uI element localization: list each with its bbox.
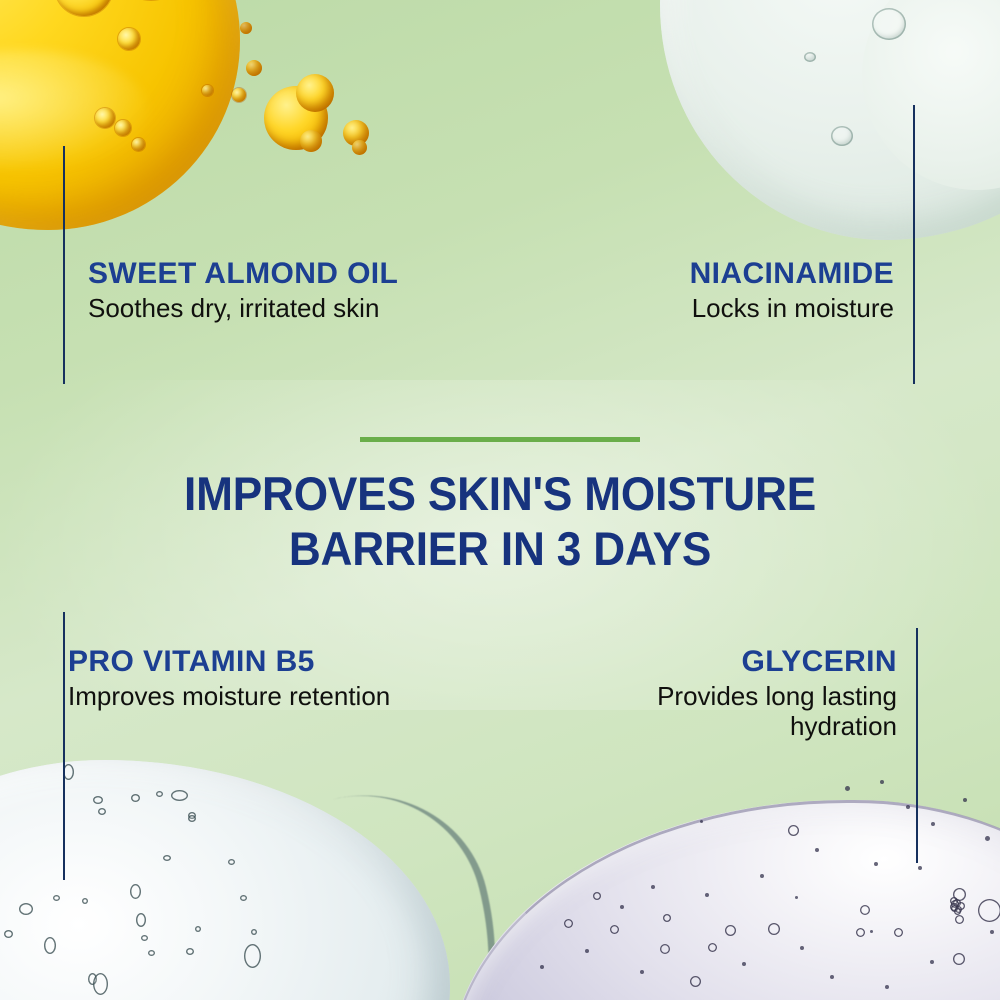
clear-gel-bubble: [228, 859, 235, 865]
headline-divider: [360, 437, 640, 442]
connector-line-pro-vitamin-b5: [63, 612, 65, 880]
lavender-gel-bubble: [954, 908, 961, 915]
clear-gel-bubble: [156, 791, 163, 797]
lavender-gel-bubble: [690, 976, 701, 987]
lavender-gel-bubble: [768, 923, 780, 935]
ingredient-description-line-1: Provides long lasting: [657, 681, 897, 711]
lavender-gel-speck: [874, 862, 878, 866]
lavender-gel-speck: [990, 930, 994, 934]
clear-gel-bubble: [93, 796, 103, 804]
clear-gel-bubble: [131, 794, 140, 802]
lavender-gel-speck: [870, 930, 873, 933]
lavender-gel-bubble: [860, 905, 870, 915]
oil-satellite-droplet: [300, 130, 322, 152]
ingredient-pro-vitamin-b5: PRO VITAMIN B5 Improves moisture retenti…: [68, 646, 390, 711]
headline-line-1: IMPROVES SKIN'S MOISTURE: [30, 466, 970, 521]
clear-gel-bubble: [63, 764, 74, 780]
page-headline: IMPROVES SKIN'S MOISTURE BARRIER IN 3 DA…: [30, 466, 970, 577]
lavender-gel-speck: [918, 866, 922, 870]
ingredient-glycerin: GLYCERIN Provides long lasting hydration: [657, 646, 897, 742]
lavender-gel-bubble: [593, 892, 601, 900]
lavender-gel-speck: [742, 962, 746, 966]
lavender-gel-speck: [985, 836, 990, 841]
lavender-gel-bubble: [660, 944, 670, 954]
oil-satellite-droplet: [352, 140, 367, 155]
clear-gel-bubble: [44, 937, 56, 954]
oil-bubble: [232, 88, 246, 102]
lavender-gel-speck: [795, 896, 798, 899]
lavender-gel-bubble: [955, 915, 964, 924]
clear-gel-bubble: [136, 913, 146, 927]
oil-satellite-droplet: [240, 22, 252, 34]
lavender-gel-speck: [760, 874, 764, 878]
ingredient-description: Locks in moisture: [690, 293, 894, 323]
lavender-gel-speck: [540, 965, 544, 969]
connector-line-sweet-almond-oil: [63, 146, 65, 384]
ingredient-niacinamide: NIACINAMIDE Locks in moisture: [690, 258, 894, 323]
lavender-gel-speck: [830, 975, 834, 979]
infographic-canvas: SWEET ALMOND OIL Soothes dry, irritated …: [0, 0, 1000, 1000]
clear-gel-bubble: [188, 815, 196, 822]
clear-gel-bubble: [163, 855, 171, 861]
lavender-gel-speck: [930, 960, 934, 964]
lavender-gel-bubble: [978, 899, 1000, 922]
clear-gel-bubble: [244, 944, 261, 968]
lavender-gel-bubble: [725, 925, 736, 936]
oil-satellite-droplet: [246, 60, 262, 76]
lavender-gel-speck: [963, 798, 967, 802]
lavender-gel-bubble: [856, 928, 865, 937]
oil-bubble: [95, 108, 115, 128]
lavender-gel-speck: [585, 949, 589, 953]
clear-gel-bubble: [240, 895, 247, 901]
ingredient-title: NIACINAMIDE: [690, 258, 894, 289]
ingredient-sweet-almond-oil: SWEET ALMOND OIL Soothes dry, irritated …: [88, 258, 398, 323]
ingredient-title: SWEET ALMOND OIL: [88, 258, 398, 289]
lavender-gel-speck: [700, 820, 703, 823]
lavender-gel-speck: [651, 885, 655, 889]
lavender-gel-speck: [800, 946, 804, 950]
clear-gel-bubble: [195, 926, 201, 932]
gel-bubble: [872, 8, 906, 40]
lavender-gel-speck: [931, 822, 935, 826]
clear-gel-bubble: [53, 895, 60, 901]
clear-gel-bubble: [171, 790, 188, 801]
headline-line-2: BARRIER IN 3 DAYS: [30, 521, 970, 576]
lavender-gel-bubble: [663, 914, 671, 922]
clear-gel-bubble: [19, 903, 33, 915]
lavender-gel-bubble: [788, 825, 799, 836]
lavender-gel-bubble: [708, 943, 717, 952]
lavender-gel-bubble: [564, 919, 573, 928]
gel-bubble: [804, 52, 816, 62]
lavender-gel-speck: [705, 893, 709, 897]
clear-gel-bubble: [82, 898, 88, 904]
oil-satellite-droplet: [296, 74, 334, 112]
oil-bubble: [202, 85, 213, 96]
connector-line-glycerin: [916, 628, 918, 863]
oil-bubble: [118, 28, 140, 50]
clear-gel-bubble: [148, 950, 155, 956]
clear-gel-bubble: [93, 973, 108, 995]
ingredient-description-line-2: hydration: [657, 711, 897, 741]
oil-bubble: [132, 138, 145, 151]
clear-gel-bubble: [130, 884, 141, 899]
lavender-gel-speck: [640, 970, 644, 974]
lavender-gel-bubble: [894, 928, 903, 937]
clear-gel-bubble: [141, 935, 148, 941]
ingredient-description: Soothes dry, irritated skin: [88, 293, 398, 323]
sweet-almond-oil-droplet-graphic: [0, 0, 280, 250]
clear-gel-bubble: [4, 930, 13, 938]
lavender-gel-speck: [880, 780, 884, 784]
clear-gel-bubble: [251, 929, 257, 935]
lavender-gel-speck: [815, 848, 819, 852]
lavender-gel-bubble: [610, 925, 619, 934]
ingredient-title: GLYCERIN: [657, 646, 897, 677]
oil-bubble: [115, 120, 131, 136]
lavender-gel-speck: [906, 805, 910, 809]
gel-bubble: [831, 126, 853, 146]
ingredient-description: Improves moisture retention: [68, 681, 390, 711]
ingredient-title: PRO VITAMIN B5: [68, 646, 390, 677]
lavender-gel-speck: [620, 905, 624, 909]
clear-gel-bubble: [98, 808, 106, 815]
lavender-gel-speck: [885, 985, 889, 989]
lavender-gel-bubble: [953, 953, 965, 965]
lavender-gel-speck: [845, 786, 850, 791]
clear-gel-bubble: [186, 948, 194, 955]
connector-line-niacinamide: [913, 105, 915, 384]
